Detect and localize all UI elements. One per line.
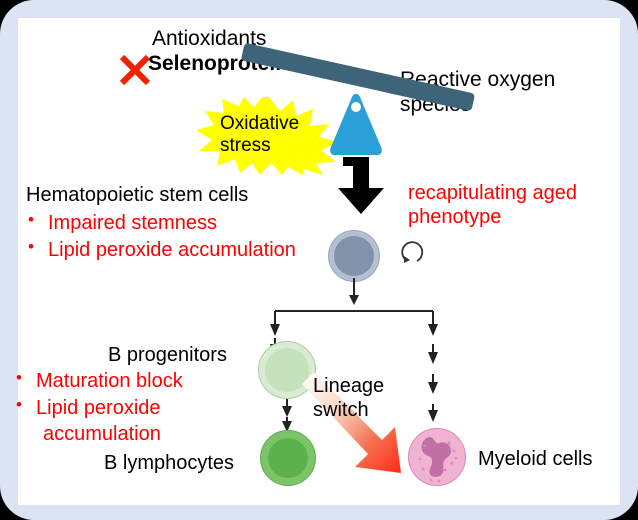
recapitulating-aged-phenotype-label: recapitulating aged phenotype xyxy=(408,182,588,229)
hsc-nucleus xyxy=(334,236,374,276)
b-progenitor-bullet-continuation: accumulation xyxy=(10,421,183,448)
oxidative-stress-label: Oxidative stress xyxy=(220,113,330,158)
figure-root: Antioxidants Selenoproteins Reactive oxy… xyxy=(0,0,638,520)
hematopoietic-stem-cell xyxy=(328,230,380,282)
balance-fulcrum-icon xyxy=(328,92,384,156)
balance-base-bar xyxy=(343,157,369,166)
hsc-bullet-list: Impaired stemness Lipid peroxide accumul… xyxy=(22,210,296,263)
lineage-switch-label: Lineage switch xyxy=(313,375,408,422)
b-progenitor-bullet-list: Maturation block Lipid peroxide accumula… xyxy=(10,368,183,448)
hsc-bullet-item: Impaired stemness xyxy=(22,210,296,237)
b-progenitor-bullet-item: Lipid peroxide xyxy=(10,395,183,422)
red-x-icon xyxy=(118,53,152,87)
downward-arrow-icon xyxy=(337,163,385,215)
hematopoietic-stem-cells-title: Hematopoietic stem cells xyxy=(26,184,248,208)
b-progenitor-bullet-item: Maturation block xyxy=(10,368,183,395)
b-lymphocytes-label: B lymphocytes xyxy=(104,452,234,476)
myeloid-cells-label: Myeloid cells xyxy=(478,448,592,472)
circular-arrow-icon xyxy=(398,238,428,268)
hsc-bullet-item: Lipid peroxide accumulation xyxy=(22,237,296,264)
b-progenitors-label: B progenitors xyxy=(108,344,227,368)
